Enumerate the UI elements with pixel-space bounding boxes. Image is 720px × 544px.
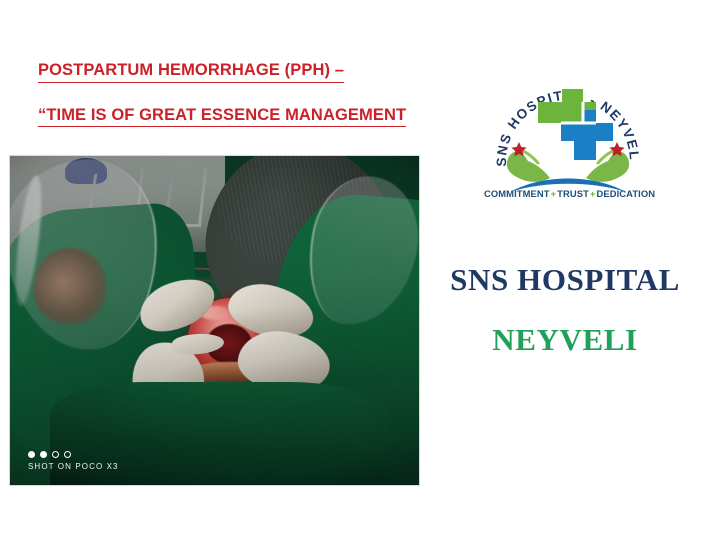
photo-surgical-instrument — [160, 342, 209, 362]
photo-equipment-stand-right — [135, 168, 207, 227]
photo-grain-overlay — [10, 156, 419, 485]
photo-background-wall — [10, 156, 225, 252]
photo-gloved-hand-upper-left — [132, 269, 222, 341]
photo-surgical-site-cavity — [206, 324, 252, 364]
photo-surgeon-right-cap-texture — [210, 156, 393, 281]
camera-watermark-text: SHOT ON POCO X3 — [28, 462, 119, 471]
slide-title-block: POSTPARTUM HEMORRHAGE (PPH) – “TIME IS O… — [38, 62, 498, 127]
photo-cables — [127, 260, 245, 323]
photo-surgeon-right-cap — [193, 156, 408, 352]
title-line-1: POSTPARTUM HEMORRHAGE (PPH) – — [38, 62, 344, 83]
title-line-2-row: “TIME IS OF GREAT ESSENCE MANAGEMENT — [38, 107, 498, 128]
photo-cables-secondary — [143, 277, 237, 321]
surgery-photo: SHOT ON POCO X3 — [10, 156, 419, 485]
photo-surgeon-left-face-shield — [10, 156, 166, 356]
photo-gloved-hand-lower-right — [234, 326, 333, 398]
camera-watermark-dots — [28, 451, 119, 458]
photo-face-shield-glare — [11, 174, 47, 307]
tagline-part-2: TRUST — [557, 188, 589, 199]
camera-watermark: SHOT ON POCO X3 — [28, 451, 119, 471]
watermark-dot-3-icon — [52, 451, 59, 458]
photo-surgical-drape-mid — [117, 271, 333, 402]
photo-surgeon-left-face — [34, 248, 106, 324]
photo-surgeon-right-face-shield — [298, 168, 419, 334]
photo-gloved-finger — [171, 331, 225, 356]
photo-gloved-hand-upper-right — [223, 276, 319, 345]
photo-equipment-stand-left — [86, 174, 175, 229]
title-line-1-row: POSTPARTUM HEMORRHAGE (PPH) – — [38, 62, 498, 83]
hospital-name-text: SNS HOSPITAL — [420, 262, 710, 298]
tagline-part-3: DEDICATION — [596, 188, 655, 199]
watermark-dot-1-icon — [28, 451, 35, 458]
watermark-dot-4-icon — [64, 451, 71, 458]
photo-stool — [65, 158, 107, 184]
logo-left-hand-icon — [507, 150, 550, 182]
presentation-slide: POSTPARTUM HEMORRHAGE (PPH) – “TIME IS O… — [0, 0, 720, 544]
hospital-logo: SNS HOSPITAL - NEYVELI — [488, 66, 648, 214]
title-line-2: “TIME IS OF GREAT ESSENCE MANAGEMENT — [38, 107, 406, 128]
hospital-city-text: NEYVELI — [420, 322, 710, 358]
photo-incision — [179, 360, 266, 386]
photo-surgical-site — [184, 294, 278, 383]
logo-tagline: COMMITMENT+TRUST+DEDICATION — [484, 188, 652, 199]
watermark-dot-2-icon — [40, 451, 47, 458]
photo-surgeon-left-gown — [10, 201, 209, 485]
photo-canvas — [10, 156, 419, 485]
photo-gloved-hand-lower-left — [125, 335, 211, 424]
tagline-part-1: COMMITMENT — [484, 188, 550, 199]
photo-surgical-site-highlight — [200, 306, 230, 320]
photo-surgeon-right-gown — [260, 188, 419, 485]
